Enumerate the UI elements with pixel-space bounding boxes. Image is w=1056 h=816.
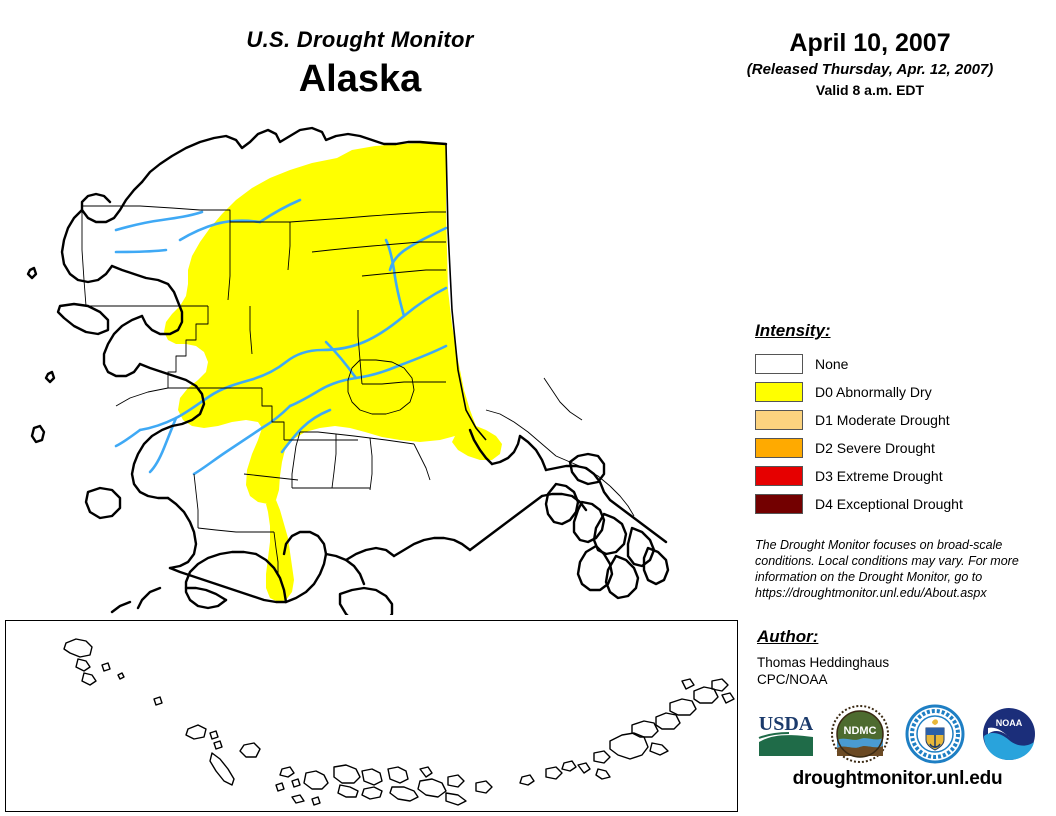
legend-row-d2[interactable]: D2 Severe Drought xyxy=(755,434,1045,462)
legend-swatch-none xyxy=(755,354,803,374)
doc-seal-logo[interactable] xyxy=(904,704,966,764)
legend-row-d3[interactable]: D3 Extreme Drought xyxy=(755,462,1045,490)
map-date: April 10, 2007 xyxy=(700,28,1040,58)
legend-swatch-d1 xyxy=(755,410,803,430)
legend-row-d1[interactable]: D1 Moderate Drought xyxy=(755,406,1045,434)
author-affiliation: CPC/NOAA xyxy=(757,671,1037,688)
legend-label-none: None xyxy=(815,355,848,373)
page-title: U.S. Drought Monitor xyxy=(150,26,570,54)
legend-row-none[interactable]: None xyxy=(755,350,1045,378)
author-heading: Author: xyxy=(757,626,1037,648)
disclaimer-text: The Drought Monitor focuses on broad-sca… xyxy=(755,537,1035,601)
legend-swatch-d4 xyxy=(755,494,803,514)
svg-text:USDA: USDA xyxy=(759,713,814,735)
aleutian-islands-inset[interactable] xyxy=(5,620,738,812)
title-block: U.S. Drought Monitor Alaska xyxy=(150,26,570,102)
legend-swatch-d2 xyxy=(755,438,803,458)
legend-row-d0[interactable]: D0 Abnormally Dry xyxy=(755,378,1045,406)
noaa-logo[interactable]: NOAA xyxy=(978,704,1040,764)
legend-row-d4[interactable]: D4 Exceptional Drought xyxy=(755,490,1045,518)
author-name: Thomas Heddinghaus xyxy=(757,654,1037,671)
release-date: (Released Thursday, Apr. 12, 2007) xyxy=(700,60,1040,80)
author-block: Author: Thomas Heddinghaus CPC/NOAA xyxy=(757,626,1037,688)
legend-swatch-d0 xyxy=(755,382,803,402)
date-block: April 10, 2007 (Released Thursday, Apr. … xyxy=(700,28,1040,100)
legend-label-d1: D1 Moderate Drought xyxy=(815,411,950,429)
legend: Intensity: None D0 Abnormally Dry D1 Mod… xyxy=(755,320,1045,518)
valid-time: Valid 8 a.m. EDT xyxy=(700,81,1040,100)
region-title: Alaska xyxy=(150,56,570,102)
legend-label-d3: D3 Extreme Drought xyxy=(815,467,943,485)
ndmc-logo[interactable]: NDMC xyxy=(829,704,891,764)
drought-area-d0 xyxy=(164,143,502,602)
site-url[interactable]: droughtmonitor.unl.edu xyxy=(755,768,1040,790)
legend-label-d0: D0 Abnormally Dry xyxy=(815,383,932,401)
svg-text:NDMC: NDMC xyxy=(844,725,877,737)
legend-label-d2: D2 Severe Drought xyxy=(815,439,935,457)
legend-swatch-d3 xyxy=(755,466,803,486)
legend-heading: Intensity: xyxy=(755,320,1045,342)
aleutian-coastline xyxy=(64,639,734,805)
svg-text:NOAA: NOAA xyxy=(996,718,1023,728)
usda-logo[interactable]: USDA xyxy=(755,704,817,764)
legend-label-d4: D4 Exceptional Drought xyxy=(815,495,963,513)
logo-row: USDA NDMC NOAA xyxy=(755,703,1040,765)
alaska-mainland-map[interactable] xyxy=(0,110,740,615)
